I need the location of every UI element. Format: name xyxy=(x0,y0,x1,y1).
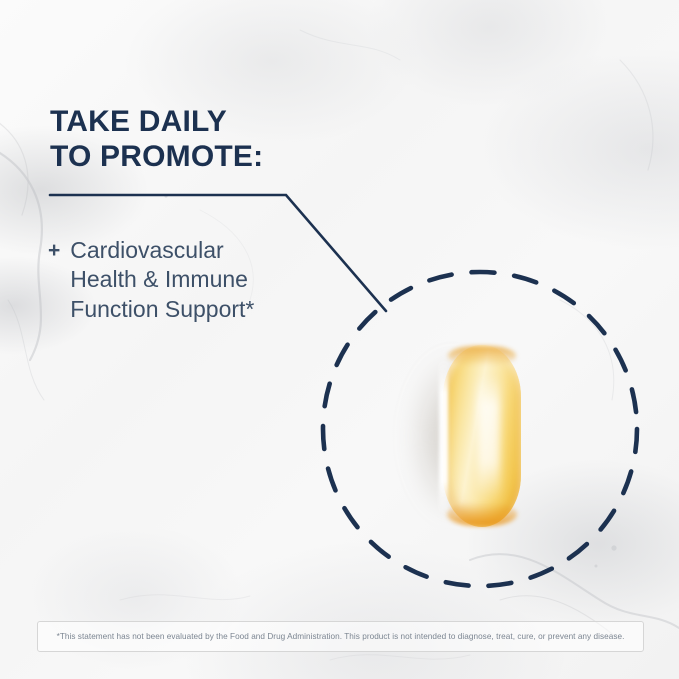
plus-bullet-icon: + xyxy=(48,236,60,261)
disclaimer-box: *This statement has not been evaluated b… xyxy=(37,621,644,652)
marble-veins xyxy=(0,0,679,679)
page-title: TAKE DAILY TO PROMOTE: xyxy=(50,104,380,175)
capsule-top-edge xyxy=(448,346,516,366)
capsule-gloss-highlight xyxy=(478,374,500,500)
benefit-text: Cardiovascular Health & Immune Function … xyxy=(70,236,320,324)
softgel-capsule xyxy=(390,330,540,545)
capsule-bottom-edge xyxy=(447,502,517,526)
capsule-rim-light xyxy=(439,358,448,516)
product-marketing-image: TAKE DAILY TO PROMOTE: + Cardiovascular … xyxy=(0,0,679,679)
disclaimer-text: *This statement has not been evaluated b… xyxy=(57,632,625,641)
benefit-list-item: + Cardiovascular Health & Immune Functio… xyxy=(48,236,320,324)
